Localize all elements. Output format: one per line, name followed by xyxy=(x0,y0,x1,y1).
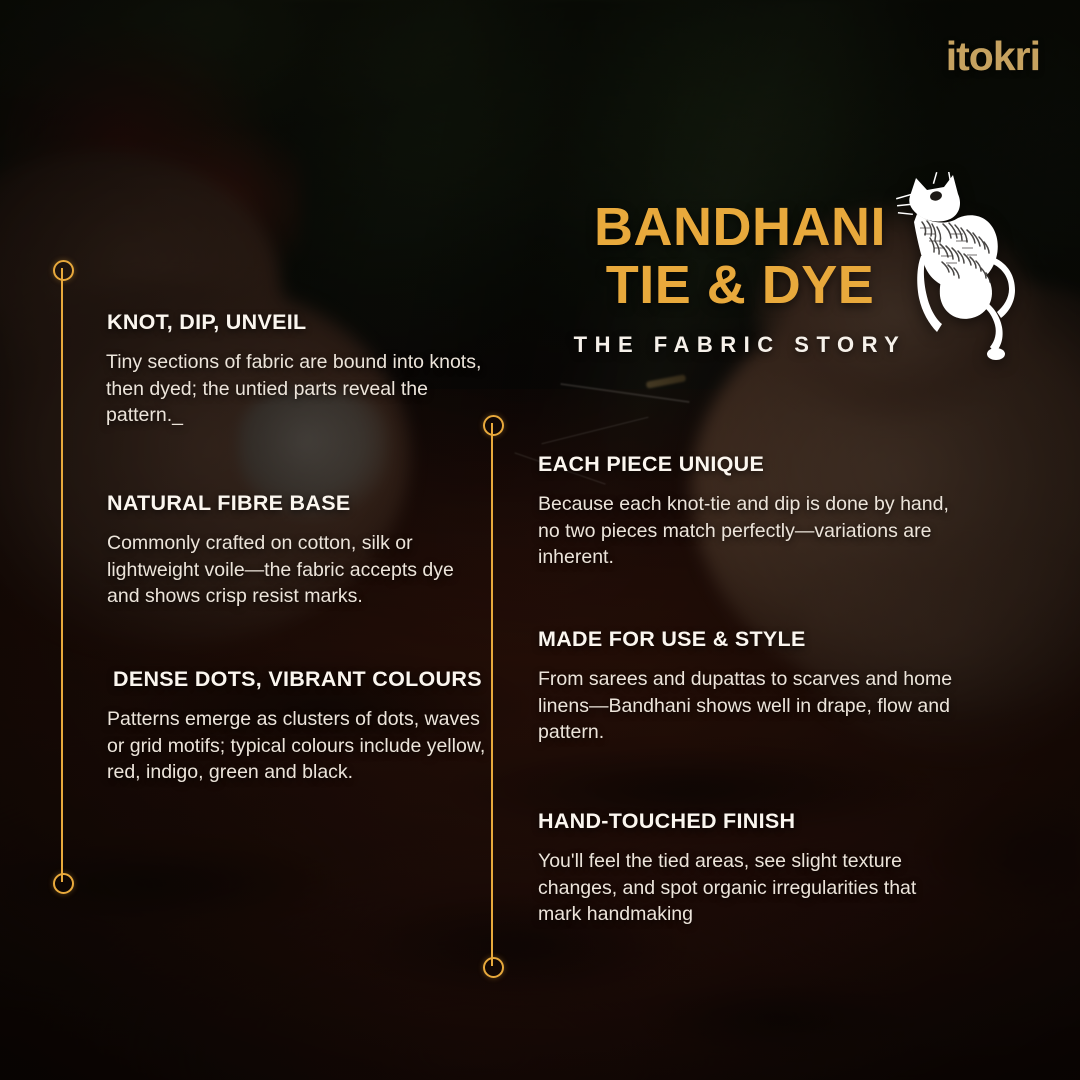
fact-body: Patterns emerge as clusters of dots, wav… xyxy=(107,706,487,786)
fact-heading: MADE FOR USE & STYLE xyxy=(538,626,958,653)
page-title-line-1: BANDHANI xyxy=(540,198,940,256)
fact-block-each-piece-unique: EACH PIECE UNIQUE Because each knot-tie … xyxy=(538,451,958,571)
bandhani-infographic: itokri BANDHANI TIE & DYE THE FABRIC STO… xyxy=(0,0,1080,1080)
fact-block-made-for-use-and-style: MADE FOR USE & STYLE From sarees and dup… xyxy=(538,626,958,746)
fact-block-hand-touched-finish: HAND-TOUCHED FINISH You'll feel the tied… xyxy=(538,808,958,928)
fact-heading: EACH PIECE UNIQUE xyxy=(538,451,958,478)
fact-heading: HAND-TOUCHED FINISH xyxy=(538,808,958,835)
fact-body: From sarees and dupattas to scarves and … xyxy=(538,666,958,746)
fact-body: Because each knot-tie and dip is done by… xyxy=(538,491,958,571)
title-block: BANDHANI TIE & DYE THE FABRIC STORY xyxy=(540,198,940,358)
fact-heading: NATURAL FIBRE BASE xyxy=(107,490,487,517)
timeline-dot-left-bottom xyxy=(53,873,74,894)
fact-block-knot-dip-unveil: KNOT, DIP, UNVEIL Tiny sections of fabri… xyxy=(0,309,487,429)
fact-heading: DENSE DOTS, VIBRANT COLOURS xyxy=(107,666,487,693)
fact-block-dense-dots-vibrant-colours: DENSE DOTS, VIBRANT COLOURS Patterns eme… xyxy=(0,666,487,786)
page-title-line-2: TIE & DYE xyxy=(540,256,940,314)
page-subtitle: THE FABRIC STORY xyxy=(540,332,940,358)
itokri-logo[interactable]: itokri xyxy=(946,36,1040,77)
fact-body: Tiny sections of fabric are bound into k… xyxy=(106,349,487,429)
fact-block-natural-fibre-base: NATURAL FIBRE BASE Commonly crafted on c… xyxy=(0,490,487,610)
timeline-dot-left-top xyxy=(53,260,74,281)
fact-body: Commonly crafted on cotton, silk or ligh… xyxy=(107,530,487,610)
logo-text: itokri xyxy=(946,33,1040,79)
timeline-dot-right-bottom xyxy=(483,957,504,978)
fact-body: You'll feel the tied areas, see slight t… xyxy=(538,848,958,928)
timeline-rail-right xyxy=(491,423,493,966)
fact-heading: KNOT, DIP, UNVEIL xyxy=(107,309,487,336)
